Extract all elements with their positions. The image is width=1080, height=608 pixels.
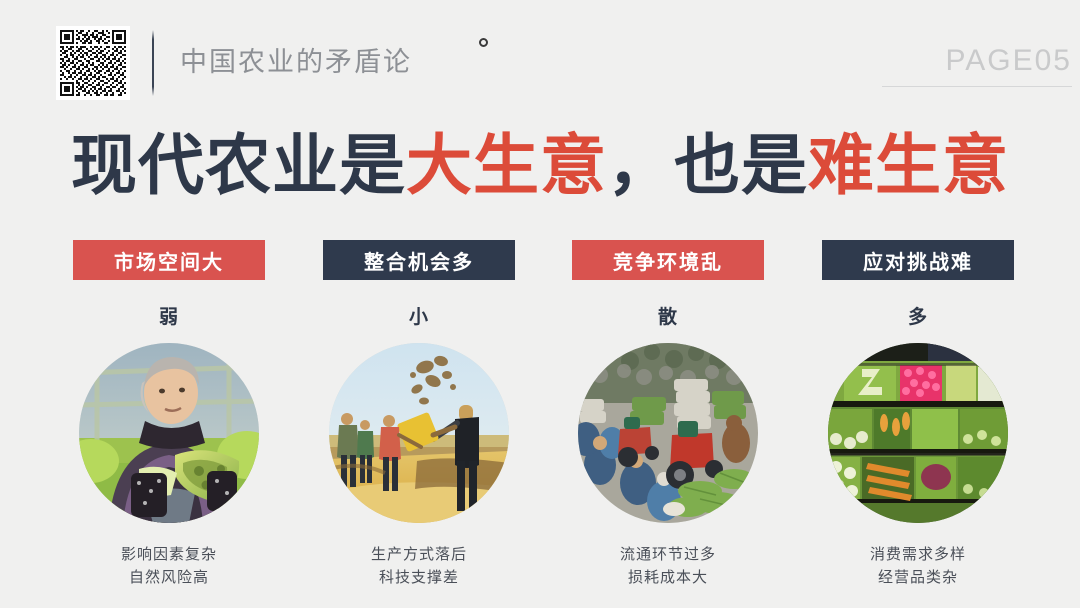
headline-accent-1: 大生意	[406, 127, 607, 204]
headline-accent-2: 难生意	[808, 127, 1009, 204]
keyword-integration-opportunity: 小	[294, 302, 544, 329]
page-title: 现代农业是大生意，也是难生意	[0, 128, 1080, 204]
badge-integration-opportunity[interactable]: 整合机会多	[323, 240, 515, 280]
column-market-space: 市场空间大 弱	[44, 240, 294, 590]
column-challenge-response: 应对挑战难 多	[793, 240, 1043, 590]
caption-line-1: 影响因素复杂	[44, 543, 294, 566]
keyword-challenge-response: 多	[793, 302, 1043, 329]
keyword-competition-environment: 散	[543, 302, 793, 329]
caption-line-2: 损耗成本大	[543, 566, 793, 589]
caption-market-space: 影响因素复杂 自然风险高	[44, 543, 294, 590]
column-integration-opportunity: 整合机会多 小	[294, 240, 544, 590]
page-number: PAGE05	[945, 44, 1072, 78]
headline-part-1: 现代农业是	[71, 127, 406, 204]
column-competition-environment: 竞争环境乱 散	[543, 240, 793, 590]
header-title: 中国农业的矛盾论	[180, 40, 412, 79]
badge-challenge-response[interactable]: 应对挑战难	[822, 240, 1014, 280]
header-divider	[152, 30, 154, 96]
slide-canvas: 中国农业的矛盾论 PAGE05 现代农业是大生意，也是难生意 市场空间大 弱	[0, 0, 1080, 608]
badge-competition-environment[interactable]: 竞争环境乱	[572, 240, 764, 280]
slide-header: 中国农业的矛盾论 PAGE05	[0, 0, 1080, 110]
circle-outline-icon	[479, 38, 488, 47]
caption-line-1: 生产方式落后	[294, 543, 544, 566]
caption-line-2: 经营品类杂	[793, 566, 1043, 589]
caption-integration-opportunity: 生产方式落后 科技支撑差	[294, 543, 544, 590]
keyword-market-space: 弱	[44, 302, 294, 329]
caption-line-1: 消费需求多样	[793, 543, 1043, 566]
headline-part-2: ，也是	[607, 127, 808, 204]
farmer-holding-vegetables-photo	[79, 343, 259, 523]
caption-competition-environment: 流通环节过多 损耗成本大	[543, 543, 793, 590]
wholesale-produce-market-photo	[578, 343, 758, 523]
caption-line-2: 科技支撑差	[294, 566, 544, 589]
badge-market-space[interactable]: 市场空间大	[73, 240, 265, 280]
farmers-winnowing-grain-photo	[329, 343, 509, 523]
supermarket-produce-shelf-photo	[828, 343, 1008, 523]
caption-challenge-response: 消费需求多样 经营品类杂	[793, 543, 1043, 590]
caption-line-1: 流通环节过多	[543, 543, 793, 566]
caption-line-2: 自然风险高	[44, 566, 294, 589]
qr-code-icon	[56, 26, 130, 100]
page-number-rule	[882, 86, 1072, 87]
